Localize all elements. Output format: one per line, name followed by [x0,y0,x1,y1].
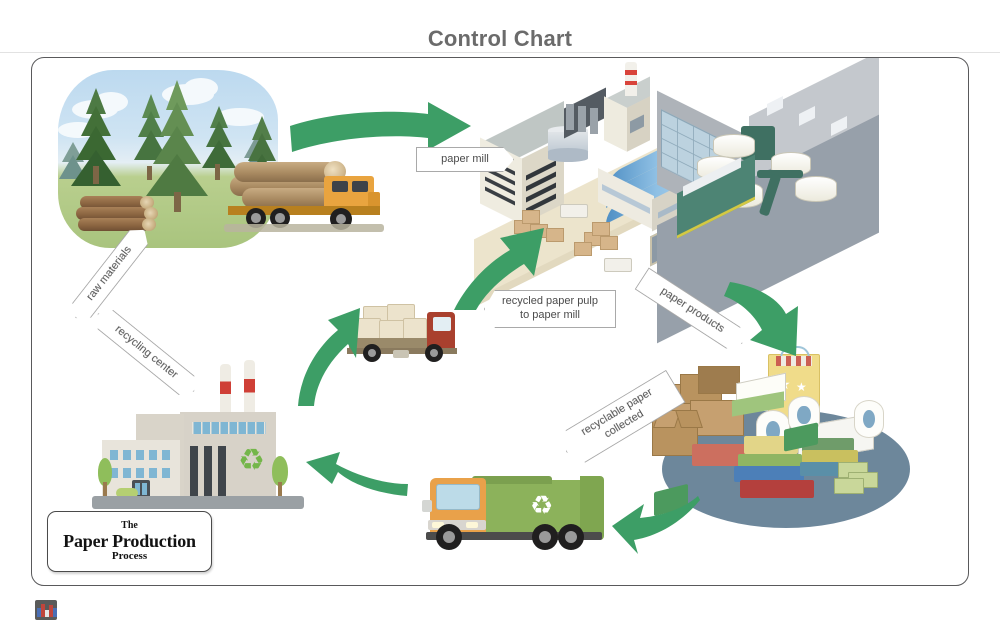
arrow-collection-to-recycling [304,450,409,504]
logo-the: The [121,521,138,531]
recycle-symbol-icon: ♻ [238,446,265,476]
logo-badge: The Paper Production Process [47,511,212,572]
page-title: Control Chart [0,26,1000,52]
scene-recycling-center: ♻ [92,358,307,523]
logo-subtitle: Process [112,551,147,562]
arrow-recycling-to-pulp-truck [294,306,362,408]
recycle-symbol-icon: ♻ [530,492,553,518]
label-recycled-pulp: recycled paper pulp to paper mill [484,290,616,328]
arrow-products-to-collection [610,496,702,558]
footer-bar [0,592,1000,634]
scene-garbage-truck: ♻ [412,458,612,568]
scene-logging-truck [228,158,388,240]
title-divider [0,52,1000,53]
bar-chart-icon[interactable] [35,600,57,620]
scene-factory-interior [657,78,927,278]
logo-title: Paper Production [63,532,196,551]
label-paper-mill: paper mill [416,147,514,172]
screenshot-root: Control Chart [0,0,1000,634]
diagram-frame: ★ ★ [31,57,969,586]
